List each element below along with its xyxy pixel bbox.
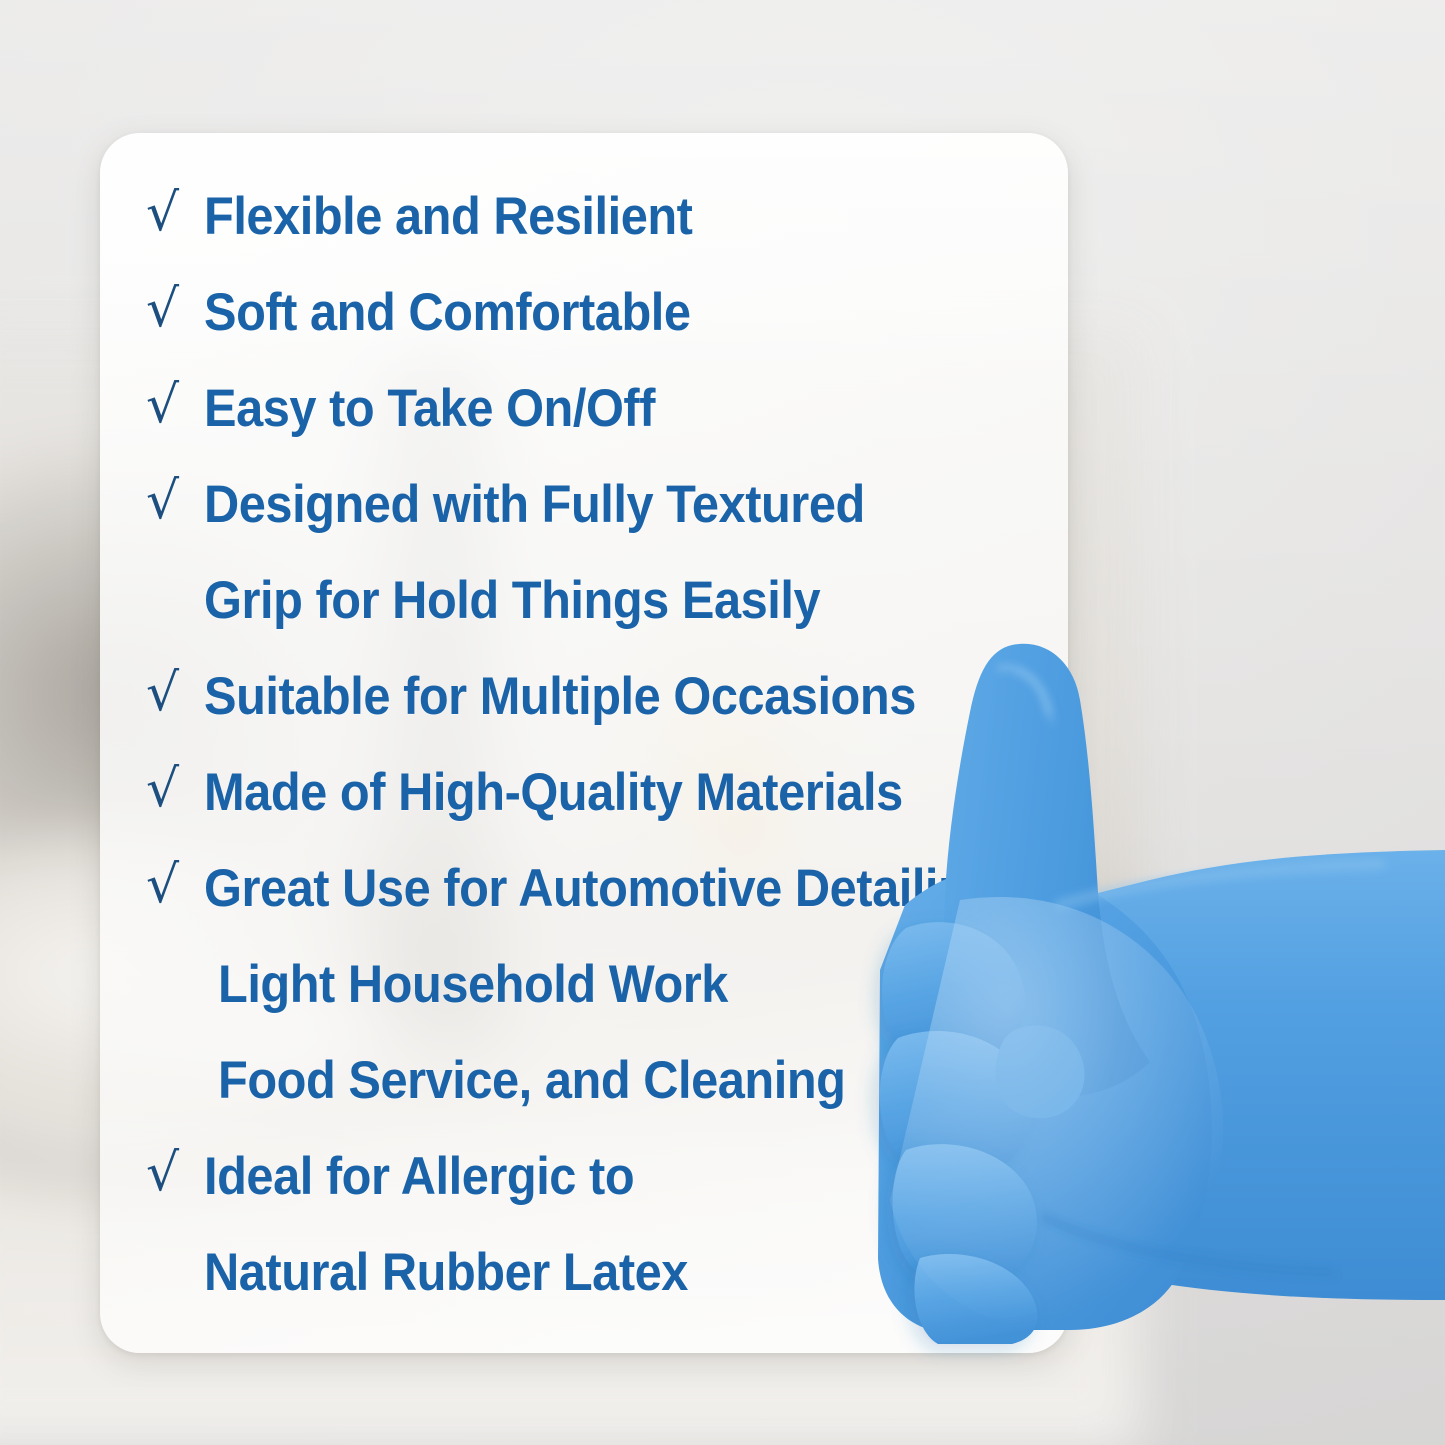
feature-row: √Ideal for Allergic to	[100, 1129, 1068, 1225]
feature-label: Soft and Comfortable	[204, 286, 691, 340]
feature-label: Flexible and Resilient	[204, 190, 692, 244]
product-feature-image: √Flexible and Resilient√Soft and Comfort…	[0, 0, 1445, 1445]
feature-label: Food Service, and Cleaning	[218, 1054, 845, 1108]
check-icon: √	[146, 667, 204, 719]
feature-row: √Easy to Take On/Off	[100, 361, 1068, 457]
feature-list: √Flexible and Resilient√Soft and Comfort…	[100, 133, 1068, 1353]
feature-label: Grip for Hold Things Easily	[204, 574, 820, 628]
check-icon: √	[146, 1147, 204, 1199]
feature-label: Great Use for Automotive Detailing	[204, 862, 997, 916]
check-icon: √	[146, 379, 204, 431]
feature-row: √Great Use for Automotive Detailing	[100, 841, 1068, 937]
feature-label: Natural Rubber Latex	[204, 1246, 688, 1300]
feature-row: √Made of High-Quality Materials	[100, 745, 1068, 841]
feature-row: √Suitable for Multiple Occasions	[100, 649, 1068, 745]
check-icon: √	[146, 763, 204, 815]
feature-row: √Soft and Comfortable	[100, 265, 1068, 361]
feature-row: Light Household Work	[100, 937, 1068, 1033]
check-icon: √	[146, 283, 204, 335]
check-icon: √	[146, 859, 204, 911]
feature-label: Ideal for Allergic to	[204, 1150, 634, 1204]
feature-label: Suitable for Multiple Occasions	[204, 670, 916, 724]
check-icon: √	[146, 187, 204, 239]
check-icon: √	[146, 475, 204, 527]
feature-label: Designed with Fully Textured	[204, 478, 865, 532]
feature-row: √Designed with Fully Textured	[100, 457, 1068, 553]
feature-label: Easy to Take On/Off	[204, 382, 655, 436]
feature-label: Made of High-Quality Materials	[204, 766, 903, 820]
feature-card: √Flexible and Resilient√Soft and Comfort…	[100, 133, 1068, 1353]
feature-row: √Flexible and Resilient	[100, 169, 1068, 265]
feature-row: Food Service, and Cleaning	[100, 1033, 1068, 1129]
feature-label: Light Household Work	[218, 958, 728, 1012]
feature-row: Natural Rubber Latex	[100, 1225, 1068, 1321]
feature-row: Grip for Hold Things Easily	[100, 553, 1068, 649]
